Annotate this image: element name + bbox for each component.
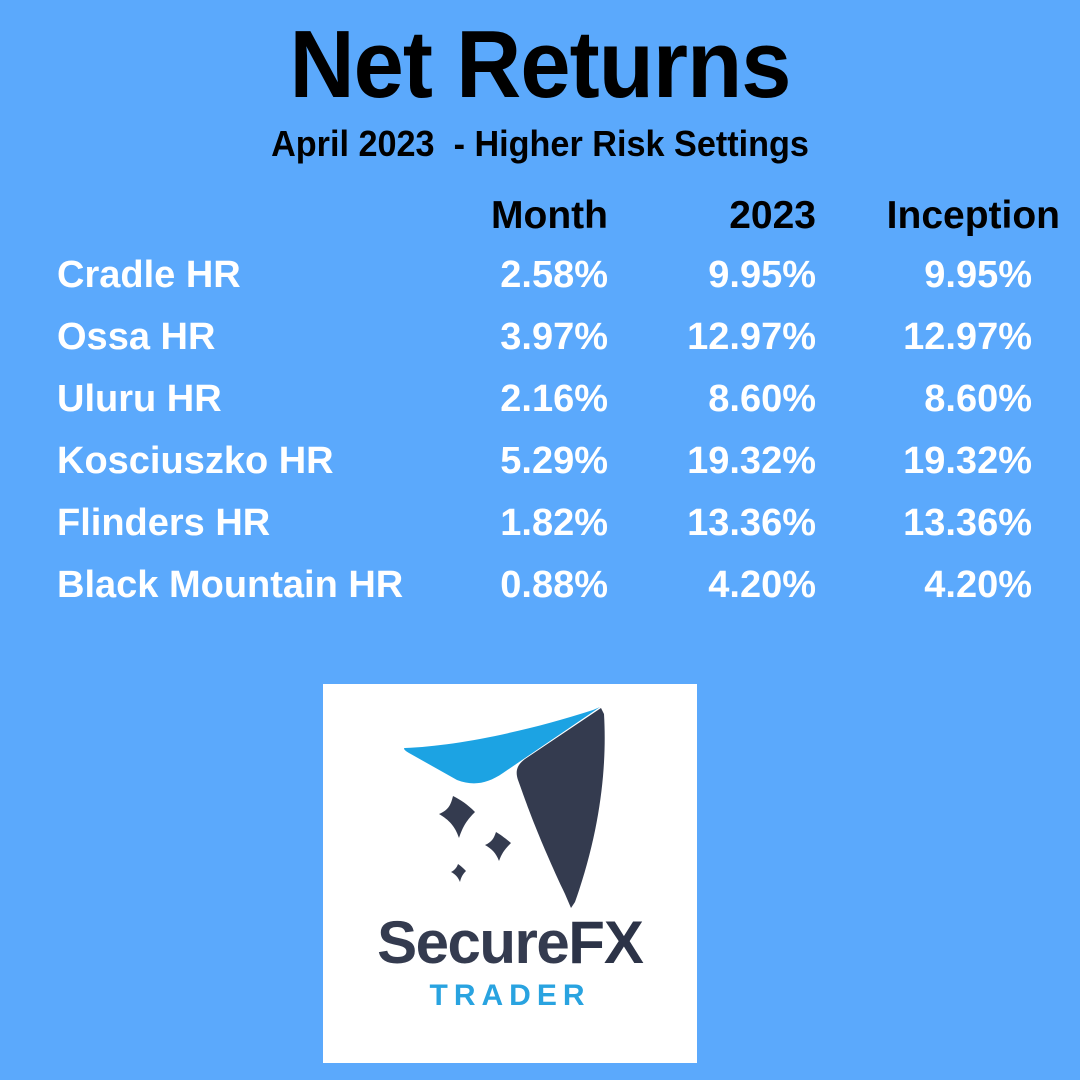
- brand-logo-card: SecureFX TRADER: [323, 684, 697, 1063]
- cell-2023: 13.36%: [660, 492, 864, 554]
- cell-inception: 13.36%: [864, 492, 1080, 554]
- cell-month: 1.82%: [460, 492, 660, 554]
- cell-month: 3.97%: [460, 306, 660, 368]
- cell-inception: 8.60%: [864, 368, 1080, 430]
- net-returns-poster: Net Returns April 2023 - Higher Risk Set…: [0, 0, 1080, 1080]
- cell-month: 5.29%: [460, 430, 660, 492]
- cell-strategy-name: Uluru HR: [0, 368, 460, 430]
- cell-2023: 8.60%: [660, 368, 864, 430]
- table-row: Cradle HR 2.58% 9.95% 9.95%: [0, 244, 1080, 306]
- cell-inception: 19.32%: [864, 430, 1080, 492]
- paper-plane-sparkles-logo-icon: [395, 704, 625, 909]
- table-header-row-group: Month 2023 Inception: [0, 188, 1080, 244]
- table-row: Uluru HR 2.16% 8.60% 8.60%: [0, 368, 1080, 430]
- brand-wordmark: SecureFX TRADER: [377, 913, 643, 1011]
- cell-2023: 19.32%: [660, 430, 864, 492]
- cell-inception: 12.97%: [864, 306, 1080, 368]
- cell-inception: 4.20%: [864, 554, 1080, 616]
- cell-2023: 4.20%: [660, 554, 864, 616]
- cell-strategy-name: Ossa HR: [0, 306, 460, 368]
- table-body: Cradle HR 2.58% 9.95% 9.95% Ossa HR 3.97…: [0, 244, 1080, 616]
- table-row: Ossa HR 3.97% 12.97% 12.97%: [0, 306, 1080, 368]
- page-title: Net Returns: [32, 0, 1047, 114]
- poster-header: Net Returns April 2023 - Higher Risk Set…: [0, 0, 1080, 164]
- column-header-inception: Inception: [864, 188, 1080, 244]
- cell-2023: 12.97%: [660, 306, 864, 368]
- cell-2023: 9.95%: [660, 244, 864, 306]
- cell-strategy-name: Cradle HR: [0, 244, 460, 306]
- cell-month: 0.88%: [460, 554, 660, 616]
- column-header-2023: 2023: [660, 188, 864, 244]
- cell-strategy-name: Flinders HR: [0, 492, 460, 554]
- wordmark-trader: TRADER: [377, 981, 643, 1011]
- cell-month: 2.58%: [460, 244, 660, 306]
- cell-inception: 9.95%: [864, 244, 1080, 306]
- net-returns-table: Month 2023 Inception Cradle HR 2.58% 9.9…: [0, 188, 1080, 616]
- page-subtitle: April 2023 - Higher Risk Settings: [27, 114, 1053, 164]
- wordmark-fx: FX: [568, 909, 643, 976]
- column-header-month: Month: [460, 188, 660, 244]
- cell-strategy-name: Black Mountain HR: [0, 554, 460, 616]
- table-header-row: Month 2023 Inception: [0, 188, 1080, 244]
- cell-month: 2.16%: [460, 368, 660, 430]
- table-row: Kosciuszko HR 5.29% 19.32% 19.32%: [0, 430, 1080, 492]
- table-row: Black Mountain HR 0.88% 4.20% 4.20%: [0, 554, 1080, 616]
- column-header-strategy: [0, 188, 460, 244]
- table-row: Flinders HR 1.82% 13.36% 13.36%: [0, 492, 1080, 554]
- wordmark-secure: Secure: [377, 909, 568, 976]
- cell-strategy-name: Kosciuszko HR: [0, 430, 460, 492]
